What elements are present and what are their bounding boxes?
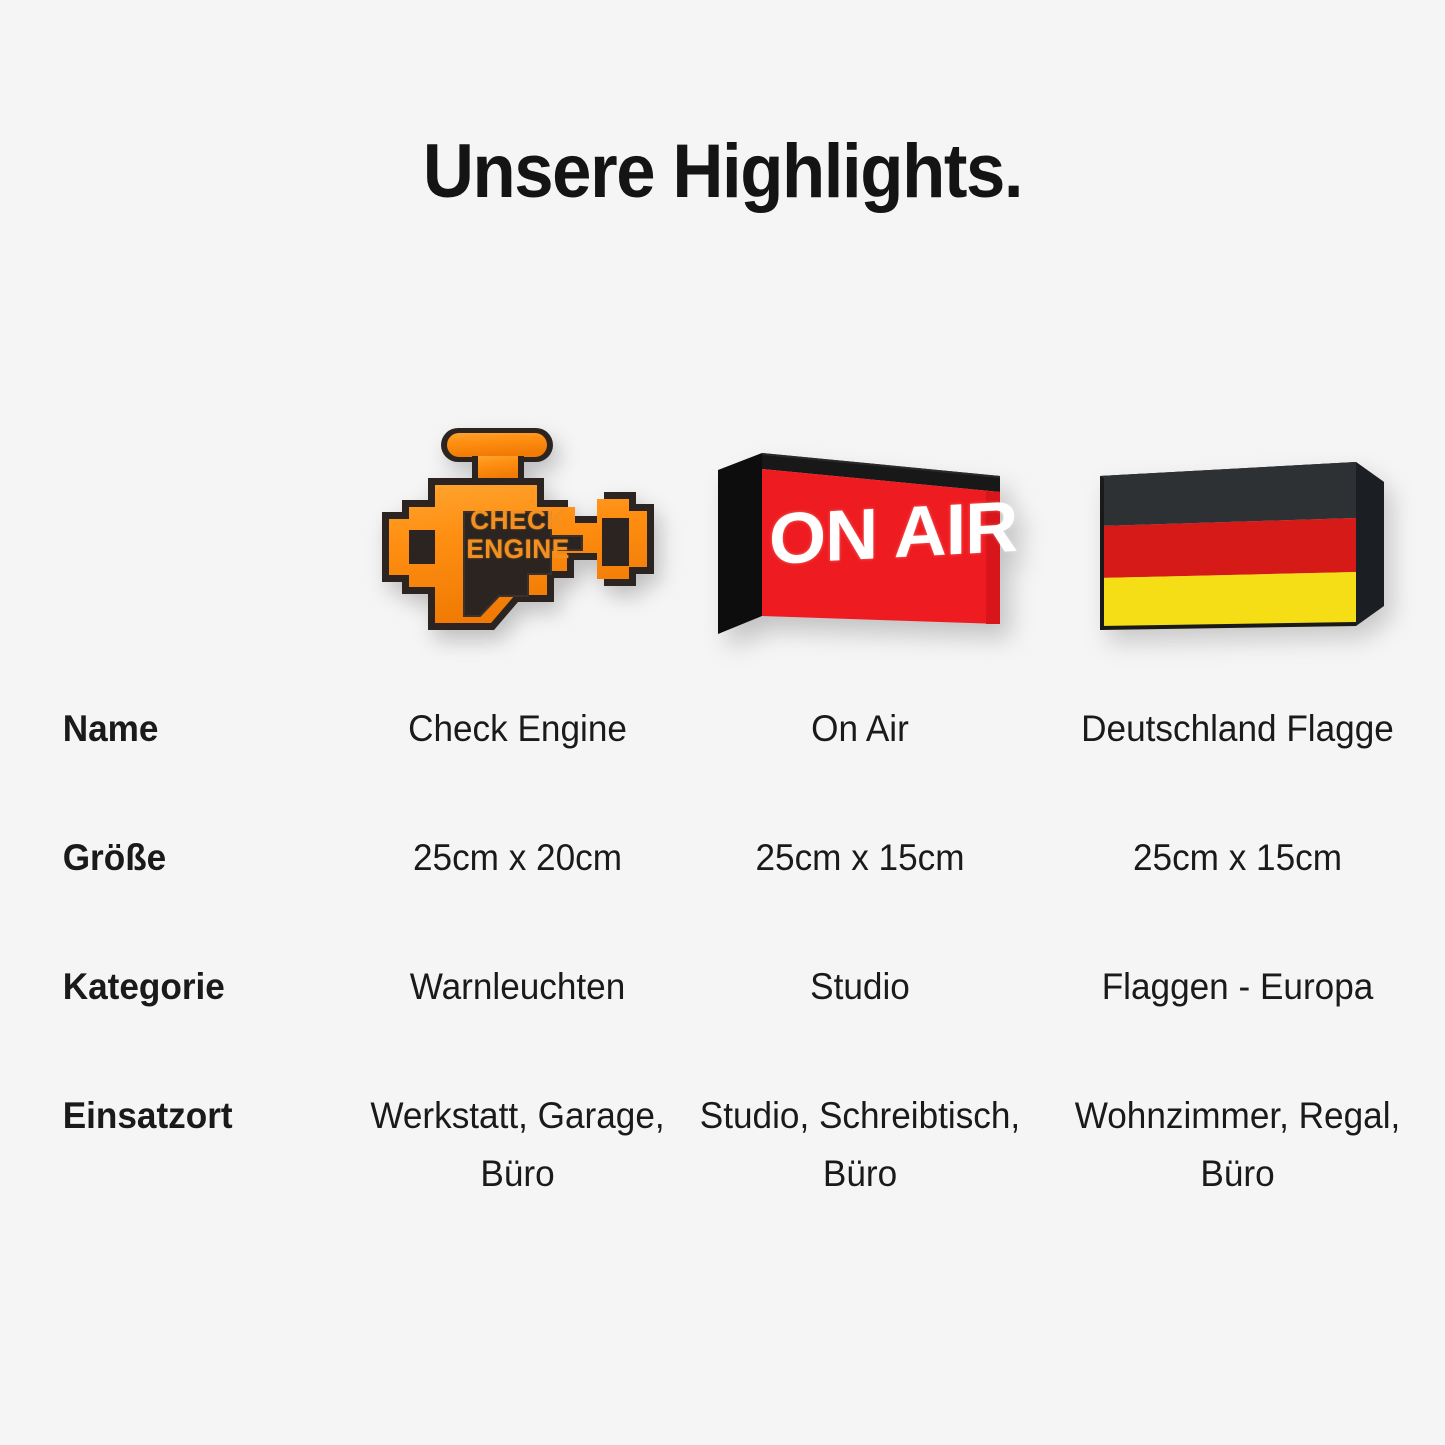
product-cell-on-air[interactable]: ON AIR	[690, 405, 1030, 670]
cell-einsatzort-deutschland-flagge: Wohnzimmer, Regal, Büro	[1040, 1087, 1434, 1202]
deutschland-flagge-lightbox-icon[interactable]	[1088, 448, 1388, 648]
row-label-einsatzort: Einsatzort	[0, 1087, 328, 1145]
cell-kategorie-on-air: Studio	[699, 958, 1022, 1016]
cell-einsatzort-check-engine: Werkstatt, Garage, Büro	[354, 1087, 682, 1202]
table-row-name: Name Check Engine On Air Deutschland Fla…	[0, 700, 1445, 829]
cell-name-on-air: On Air	[699, 700, 1022, 758]
cell-name-check-engine: Check Engine	[354, 700, 682, 758]
row-label-name: Name	[0, 700, 328, 758]
product-row-label-spacer	[0, 405, 345, 670]
cell-name-deutschland-flagge: Deutschland Flagge	[1040, 700, 1434, 758]
on-air-lightbox-icon[interactable]: ON AIR	[714, 448, 1006, 648]
cell-groesse-check-engine: 25cm x 20cm	[354, 829, 682, 887]
table-row-einsatzort: Einsatzort Werkstatt, Garage, Büro Studi…	[0, 1087, 1445, 1267]
cell-einsatzort-on-air: Studio, Schreibtisch, Büro	[699, 1087, 1022, 1202]
cell-groesse-on-air: 25cm x 15cm	[699, 829, 1022, 887]
cell-groesse-deutschland-flagge: 25cm x 15cm	[1040, 829, 1434, 887]
highlights-page: Unsere Highlights.	[0, 0, 1445, 1445]
cell-kategorie-check-engine: Warnleuchten	[354, 958, 682, 1016]
page-title: Unsere Highlights.	[51, 134, 1395, 210]
table-row-groesse: Größe 25cm x 20cm 25cm x 15cm 25cm x 15c…	[0, 829, 1445, 958]
row-label-kategorie: Kategorie	[0, 958, 328, 1016]
product-cell-check-engine[interactable]: CHECK ENGINE	[345, 405, 690, 670]
cell-kategorie-deutschland-flagge: Flaggen - Europa	[1040, 958, 1434, 1016]
check-engine-lamp-icon[interactable]: CHECK ENGINE	[368, 426, 668, 658]
spec-table: Name Check Engine On Air Deutschland Fla…	[0, 700, 1445, 1267]
table-row-kategorie: Kategorie Warnleuchten Studio Flaggen - …	[0, 958, 1445, 1087]
product-cell-deutschland-flagge[interactable]	[1030, 405, 1445, 670]
row-label-groesse: Größe	[0, 829, 328, 887]
product-image-row: CHECK ENGINE ON AIR	[0, 405, 1445, 670]
